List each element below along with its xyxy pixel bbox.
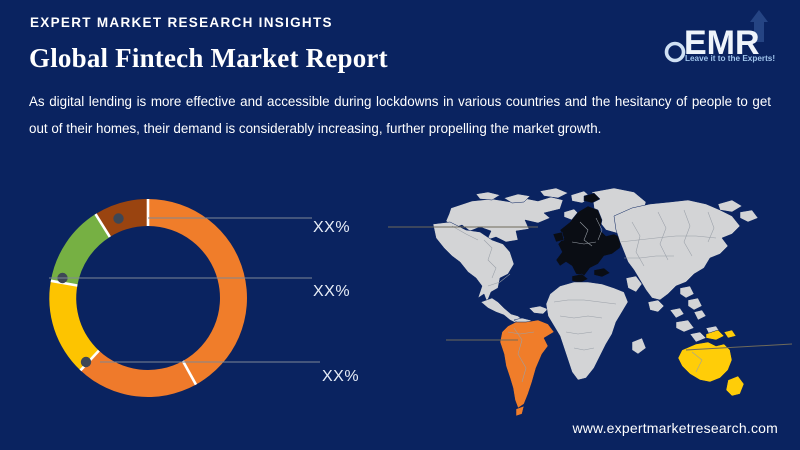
donut-chart: [20, 180, 340, 420]
donut-segment-2: [80, 351, 195, 397]
intro-paragraph: As digital lending is more effective and…: [29, 88, 771, 142]
map-region-africa: [546, 282, 646, 380]
callout-label-top: XX%: [313, 219, 350, 237]
map-region-south-america: [500, 320, 554, 416]
donut-marker-dot: [113, 213, 123, 223]
donut-marker-dot: [81, 357, 91, 367]
callout-label-bottom: XX%: [322, 368, 359, 386]
circle-icon: [667, 44, 684, 61]
website-url: www.expertmarketresearch.com: [572, 420, 778, 436]
map-region-oceania: [678, 330, 744, 396]
callout-label-middle: XX%: [313, 283, 350, 301]
slide-root: EXPERT MARKET RESEARCH INSIGHTS Global F…: [0, 0, 800, 450]
eyebrow-text: EXPERT MARKET RESEARCH INSIGHTS: [30, 15, 333, 30]
donut-segment-1: [148, 199, 247, 385]
world-map: [388, 182, 792, 426]
page-title: Global Fintech Market Report: [29, 43, 388, 74]
emr-logo: EMR Leave it to the Experts!: [662, 8, 782, 66]
logo-tagline: Leave it to the Experts!: [685, 54, 775, 63]
map-region-asia: [614, 200, 758, 342]
